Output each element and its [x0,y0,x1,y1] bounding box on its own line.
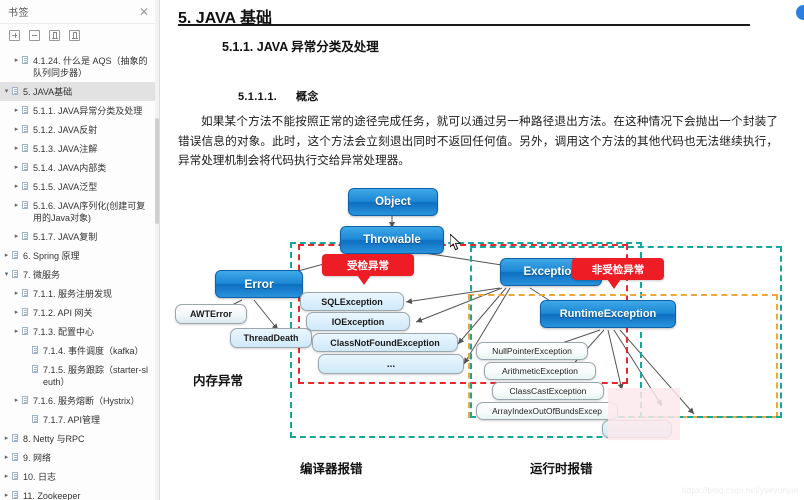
bookmark-item-label: 5.1.5. JAVA泛型 [33,181,153,193]
bookmark-item-label: 11. Zookeeper [23,490,153,500]
close-icon[interactable]: ✕ [137,6,151,18]
sidebar-toolbar [0,24,159,46]
bookmark-item[interactable]: ▸5.1.7. JAVA复制 [0,227,159,246]
bookmark-item[interactable]: ▸7.1.2. API 网关 [0,303,159,322]
chevron-right-icon[interactable]: ▸ [12,105,21,117]
callout-checked-exception: 受检异常 [322,254,414,276]
callout-tail [357,275,371,285]
bookmark-item-label: 7.1.1. 服务注册发现 [33,288,153,300]
bookmark-item[interactable]: ▾5. JAVA基础 [0,82,159,101]
node-throwable[interactable]: Throwable [340,226,444,254]
bookmark-item[interactable]: ▸11. Zookeeper [0,486,159,500]
callout-checked-label: 受检异常 [347,258,389,273]
bookmark-item[interactable]: ▸5.1.4. JAVA内部类 [0,158,159,177]
page-icon [21,201,30,210]
bookmark-item[interactable]: 7.1.4. 事件调度（kafka） [0,341,159,360]
node-array-index-out-of-bounds-exception[interactable]: ArrayIndexOutOfBundsExcep [476,402,618,420]
bookmark-item[interactable]: ▸7.1.3. 配置中心 [0,322,159,341]
bookmark-item[interactable]: ▸7.1.1. 服务注册发现 [0,284,159,303]
chevron-right-icon[interactable]: ▸ [12,395,21,407]
notification-dot-icon[interactable] [796,5,804,20]
node-class-not-found-exception[interactable]: ClassNotFoundException [312,333,458,352]
label-memory-error: 内存异常 [193,370,243,389]
pdf-reader-window: 书签 ✕ ▸4.1.24. 什么是 AQS（抽象的队列同步器）▾5. JAVA基… [0,0,804,500]
bookmark-item-label: 8. Netty 与RPC [23,433,153,445]
bookmark-item-label: 5.1.3. JAVA注解 [33,143,153,155]
page-icon [21,125,30,134]
bookmark-tree[interactable]: ▸4.1.24. 什么是 AQS（抽象的队列同步器）▾5. JAVA基础▸5.1… [0,46,159,500]
bookmark-item[interactable]: ▸4.1.24. 什么是 AQS（抽象的队列同步器） [0,51,159,82]
node-checked-more[interactable]: ... [318,354,464,374]
callout-unchecked-exception: 非受检异常 [572,258,664,280]
chevron-right-icon[interactable]: ▸ [12,124,21,136]
page-icon [21,144,30,153]
node-error[interactable]: Error [215,270,303,298]
new-bookmark-icon[interactable] [49,30,60,41]
node-class-cast-exception[interactable]: ClassCastException [492,382,604,400]
page-icon [11,270,20,279]
page-icon [11,251,20,260]
section-heading: 5.1.1. JAVA 异常分类及处理 [222,36,379,55]
page-icon [21,163,30,172]
chevron-right-icon[interactable]: ▸ [12,200,21,212]
bookmark-item-label: 7.1.2. API 网关 [33,307,153,319]
bookmark-item-label: 10. 日志 [23,471,153,483]
callout-tail [607,279,621,289]
page-icon [21,396,30,405]
bookmark-item[interactable]: ▸8. Netty 与RPC [0,429,159,448]
bookmark-item-label: 5.1.1. JAVA异常分类及处理 [33,105,153,117]
node-thread-death[interactable]: ThreadDeath [230,328,312,348]
body-paragraph: 如果某个方法不能按照正常的途径完成任务，就可以通过另一种路径退出方法。在这种情况… [178,112,778,171]
subsection-number: 5.1.1.1. [238,91,296,103]
bookmark-item[interactable]: ▸6. Spring 原理 [0,246,159,265]
page-icon [11,472,20,481]
redaction-overlay [608,388,680,440]
page-icon [11,491,20,500]
bookmark-item-label: 4.1.24. 什么是 AQS（抽象的队列同步器） [33,55,153,79]
bookmark-item-label: 7.1.3. 配置中心 [33,326,153,338]
chevron-right-icon[interactable]: ▸ [2,471,11,483]
bookmark-item-label: 7.1.7. API管理 [43,414,153,426]
chevron-right-icon[interactable]: ▸ [2,250,11,262]
node-sql-exception[interactable]: SQLException [300,292,404,311]
chevron-down-icon[interactable]: ▾ [2,269,11,281]
node-io-exception[interactable]: IOException [306,312,410,331]
document-page: 5. JAVA 基础 5.1.1. JAVA 异常分类及处理 5.1.1.1.概… [160,0,804,500]
bookmark-item[interactable]: ▸7.1.6. 服务熔断（Hystrix） [0,391,159,410]
sidebar-header: 书签 ✕ [0,0,159,24]
node-object[interactable]: Object [348,188,438,216]
bookmark-item[interactable]: ▸5.1.3. JAVA注解 [0,139,159,158]
node-null-pointer-exception[interactable]: NullPointerException [476,342,588,360]
watermark: https://blog.csdn.net/yueyunyin [682,486,798,495]
bookmark-item[interactable]: ▸5.1.6. JAVA序列化(创建可复用的Java对象) [0,196,159,227]
subsection-heading: 5.1.1.1.概念 [238,88,319,104]
page-icon [21,289,30,298]
bookmark-item[interactable]: ▾7. 微服务 [0,265,159,284]
label-runtime-error: 运行时报错 [530,458,593,477]
page-icon [21,56,30,65]
bookmark-item[interactable]: 7.1.7. API管理 [0,410,159,429]
page-icon [31,365,40,374]
node-awt-error[interactable]: AWTError [175,304,247,324]
bookmark-item[interactable]: ▸10. 日志 [0,467,159,486]
collapse-all-icon[interactable] [29,30,40,41]
page-icon [11,453,20,462]
bookmark-item-label: 6. Spring 原理 [23,250,153,262]
bookmark-item[interactable]: ▸5.1.2. JAVA反射 [0,120,159,139]
node-runtime-exception[interactable]: RuntimeException [540,300,676,328]
bookmark-item-label: 9. 网络 [23,452,153,464]
subsection-text: 概念 [296,91,319,103]
page-icon [21,327,30,336]
page-icon [11,87,20,96]
bookmark-item-label: 5. JAVA基础 [23,86,153,98]
bookmark-item-label: 5.1.4. JAVA内部类 [33,162,153,174]
chevron-right-icon[interactable]: ▸ [12,162,21,174]
page-icon [31,346,40,355]
sidebar-scrollbar-track[interactable] [155,0,159,500]
mouse-cursor-icon [450,234,462,251]
callout-unchecked-label: 非受检异常 [592,262,645,277]
bookmark-item[interactable]: ▸9. 网络 [0,448,159,467]
bookmark-options-icon[interactable] [69,30,80,41]
title-rule [178,24,750,26]
chevron-right-icon[interactable]: ▸ [12,231,21,243]
bookmark-item-label: 7.1.6. 服务熔断（Hystrix） [33,395,153,407]
chevron-right-icon[interactable]: ▸ [12,288,21,300]
bookmark-item-label: 5.1.6. JAVA序列化(创建可复用的Java对象) [33,200,153,224]
chevron-right-icon[interactable]: ▸ [2,433,11,445]
bookmark-item[interactable]: 7.1.5. 服务跟踪（starter-sleuth） [0,360,159,391]
page-icon [11,434,20,443]
chevron-right-icon[interactable]: ▸ [12,143,21,155]
bookmark-item-label: 5.1.2. JAVA反射 [33,124,153,136]
bookmark-item-label: 7.1.5. 服务跟踪（starter-sleuth） [43,364,153,388]
node-arithmetic-exception[interactable]: ArithmeticException [484,362,596,380]
chevron-right-icon[interactable]: ▸ [2,452,11,464]
page-icon [31,415,40,424]
bookmark-item-label: 7. 微服务 [23,269,153,281]
chevron-right-icon[interactable]: ▸ [12,326,21,338]
page-icon [21,308,30,317]
bookmarks-sidebar: 书签 ✕ ▸4.1.24. 什么是 AQS（抽象的队列同步器）▾5. JAVA基… [0,0,160,500]
sidebar-title: 书签 [8,4,29,19]
sidebar-scrollbar-thumb[interactable] [155,118,159,224]
bookmark-item-label: 5.1.7. JAVA复制 [33,231,153,243]
chevron-right-icon[interactable]: ▸ [12,307,21,319]
page-icon [21,106,30,115]
page-icon [21,232,30,241]
chevron-right-icon[interactable]: ▸ [2,490,11,500]
bookmark-item-label: 7.1.4. 事件调度（kafka） [43,345,153,357]
bookmark-item[interactable]: ▸5.1.5. JAVA泛型 [0,177,159,196]
exception-hierarchy-diagram: Object Throwable Error Exception AWTErro… [170,176,794,494]
page-icon [21,182,30,191]
chevron-down-icon[interactable]: ▾ [2,86,11,98]
chevron-right-icon[interactable]: ▸ [12,181,21,193]
label-compile-error: 编译器报错 [300,458,363,477]
expand-all-icon[interactable] [9,30,20,41]
bookmark-item[interactable]: ▸5.1.1. JAVA异常分类及处理 [0,101,159,120]
chevron-right-icon[interactable]: ▸ [12,55,21,67]
